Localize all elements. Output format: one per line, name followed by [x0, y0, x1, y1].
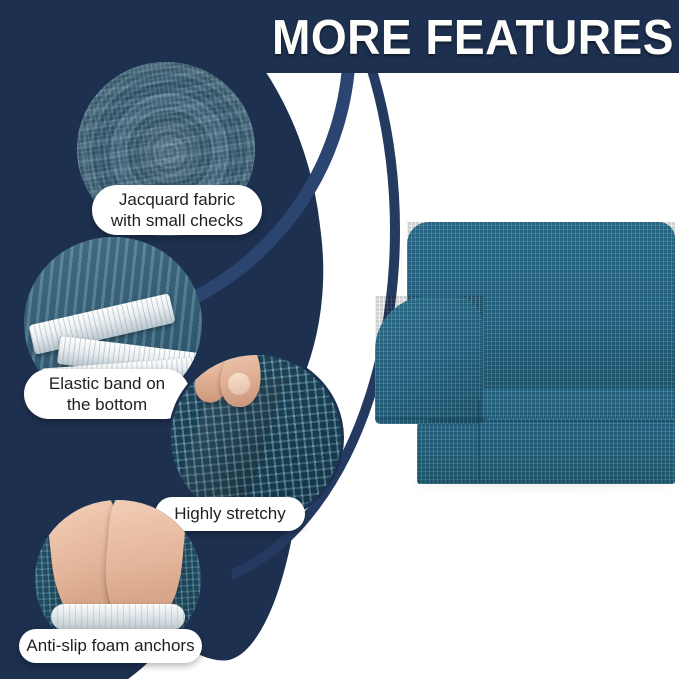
- product-image-loveseat-slipcover: [375, 222, 675, 492]
- feature-label-foam-anchors: Anti-slip foam anchors: [19, 629, 202, 663]
- foam-anchor-roll: [51, 604, 185, 630]
- sofa-seam-arm: [375, 418, 487, 420]
- feature-label-jacquard: Jacquard fabric with small checks: [92, 185, 262, 235]
- sofa-seam-horizontal: [431, 420, 675, 422]
- feature-label-elastic-band: Elastic band on the bottom: [24, 369, 190, 419]
- sofa-ground-shadow: [413, 478, 675, 488]
- infographic-canvas: MORE FEATURES Jacquard fabric with small…: [0, 0, 679, 679]
- fingernail: [227, 372, 251, 396]
- sofa-seam-vertical: [478, 400, 480, 480]
- sofa-rolled-arm: [375, 296, 483, 424]
- sofa-skirt: [417, 418, 675, 484]
- sofa-fabric-texture: [375, 296, 483, 424]
- foam-anchor-texture: [51, 604, 185, 630]
- sofa-fabric-texture: [417, 418, 675, 484]
- page-title: MORE FEATURES: [272, 9, 648, 67]
